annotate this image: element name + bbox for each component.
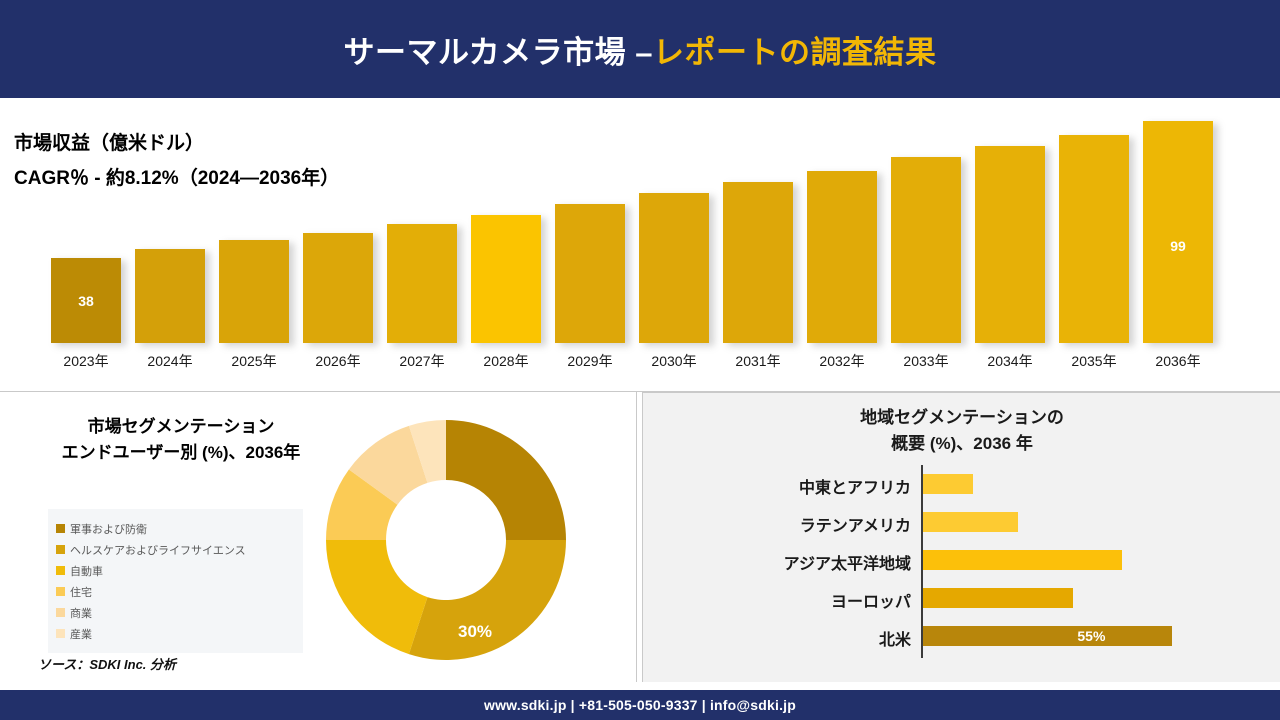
legend-item: 住宅	[56, 581, 303, 602]
donut-chart-title: 市場セグメンテーション エンドユーザー別 (%)、2036年	[36, 414, 326, 467]
source-note: ソース：SDKI Inc. 分析	[38, 654, 176, 673]
infographic-page: サーマルカメラ市場 –レポートの調査結果 市場収益（億米ドル） CAGR％ - …	[0, 0, 1280, 720]
revenue-bar	[303, 233, 373, 343]
revenue-bar-label: 2035年	[1052, 351, 1136, 371]
revenue-bar	[555, 204, 625, 343]
legend-swatch-icon	[56, 566, 65, 575]
legend-swatch-icon	[56, 587, 65, 596]
donut-chart-svg	[310, 404, 582, 676]
revenue-bar-slot: 99	[1136, 108, 1220, 343]
region-row: 中東とアフリカ	[643, 465, 1280, 503]
legend-item-label: 軍事および防衛	[70, 521, 147, 537]
legend-item: 商業	[56, 602, 303, 623]
revenue-bar-label: 2028年	[464, 351, 548, 371]
donut-title-line-1: 市場セグメンテーション	[36, 414, 326, 440]
revenue-bar	[807, 171, 877, 343]
region-bar	[923, 588, 1073, 608]
page-title-accent: レポートの調査結果	[653, 35, 937, 70]
revenue-bar	[891, 157, 961, 343]
revenue-bar-label: 2032年	[800, 351, 884, 371]
region-bar	[923, 550, 1122, 570]
region-row: アジア太平洋地域	[643, 541, 1280, 579]
revenue-bar-label: 2029年	[548, 351, 632, 371]
revenue-bar-slot	[296, 108, 380, 343]
revenue-bar-slot	[884, 108, 968, 343]
donut-title-line-2: エンドユーザー別 (%)、2036年	[36, 440, 326, 466]
region-title-line-1: 地域セグメンテーションの	[643, 405, 1280, 431]
donut-slice	[326, 540, 427, 654]
legend-item-label: 商業	[70, 605, 92, 621]
legend-swatch-icon	[56, 524, 65, 533]
revenue-bar-slot	[968, 108, 1052, 343]
region-title-line-2: 概要 (%)、2036 年	[643, 431, 1280, 457]
region-bar	[923, 474, 973, 494]
footer-bar: www.sdki.jp | +81-505-050-9337 | info@sd…	[0, 690, 1280, 720]
market-revenue-section: 市場収益（億米ドル） CAGR％ - 約8.12%（2024―2036年） 38…	[0, 98, 1280, 392]
revenue-column-plot: 3899	[44, 108, 1224, 343]
revenue-bar-label: 2027年	[380, 351, 464, 371]
revenue-bar	[723, 182, 793, 343]
region-bar-chart: 中東とアフリカラテンアメリカアジア太平洋地域ヨーロッパ北米55%	[643, 465, 1280, 665]
revenue-bar-label: 2033年	[884, 351, 968, 371]
donut-data-label: 30%	[458, 622, 492, 642]
legend-swatch-icon	[56, 545, 65, 554]
regional-segmentation-panel: 地域セグメンテーションの 概要 (%)、2036 年 中東とアフリカラテンアメリ…	[642, 392, 1280, 682]
revenue-bar-slot	[380, 108, 464, 343]
revenue-bar-slot	[1052, 108, 1136, 343]
page-title-primary: サーマルカメラ市場 –	[344, 35, 653, 70]
legend-item: 産業	[56, 623, 303, 644]
revenue-bar	[471, 215, 541, 343]
region-row: ヨーロッパ	[643, 579, 1280, 617]
revenue-bar-slot: 38	[44, 108, 128, 343]
revenue-bar	[387, 224, 457, 343]
revenue-bar	[975, 146, 1045, 343]
region-label: ヨーロッパ	[643, 588, 911, 612]
legend-item-label: 住宅	[70, 584, 92, 600]
donut-chart: 30%	[310, 404, 582, 676]
region-bar	[923, 626, 1172, 646]
revenue-bar-slot	[212, 108, 296, 343]
revenue-bar-label: 2024年	[128, 351, 212, 371]
end-user-segmentation-panel: 市場セグメンテーション エンドユーザー別 (%)、2036年 軍事および防衛ヘル…	[0, 392, 637, 682]
revenue-bar	[135, 249, 205, 343]
revenue-bar-slot	[800, 108, 884, 343]
revenue-bar-slot	[548, 108, 632, 343]
revenue-bar-label: 2031年	[716, 351, 800, 371]
legend-item-label: 産業	[70, 626, 92, 642]
region-row: 北米55%	[643, 617, 1280, 655]
region-bar-value: 55%	[1077, 628, 1105, 644]
revenue-bar-label: 2034年	[968, 351, 1052, 371]
revenue-bar-label: 2025年	[212, 351, 296, 371]
revenue-bar-label: 2036年	[1136, 351, 1220, 371]
region-label: ラテンアメリカ	[643, 512, 911, 536]
legend-item: 軍事および防衛	[56, 518, 303, 539]
legend-item: ヘルスケアおよびライフサイエンス	[56, 539, 303, 560]
legend-item-label: 自動車	[70, 563, 103, 579]
region-chart-title: 地域セグメンテーションの 概要 (%)、2036 年	[643, 405, 1280, 456]
region-label: アジア太平洋地域	[643, 550, 911, 574]
region-bar	[923, 512, 1018, 532]
revenue-bar	[1059, 135, 1129, 343]
segmentation-section: 市場セグメンテーション エンドユーザー別 (%)、2036年 軍事および防衛ヘル…	[0, 392, 1280, 682]
revenue-bar-slot	[632, 108, 716, 343]
legend-swatch-icon	[56, 629, 65, 638]
page-title: サーマルカメラ市場 –レポートの調査結果	[344, 27, 937, 72]
revenue-bar-value: 99	[1143, 238, 1213, 254]
revenue-bar-label: 2030年	[632, 351, 716, 371]
legend-swatch-icon	[56, 608, 65, 617]
revenue-bar-label: 2026年	[296, 351, 380, 371]
revenue-bar-value: 38	[51, 293, 121, 309]
revenue-bar	[219, 240, 289, 343]
legend-item: 自動車	[56, 560, 303, 581]
revenue-bar-slot	[464, 108, 548, 343]
revenue-column-axis-labels: 2023年2024年2025年2026年2027年2028年2029年2030年…	[44, 348, 1224, 378]
revenue-bar-slot	[128, 108, 212, 343]
region-label: 中東とアフリカ	[643, 474, 911, 498]
revenue-column-chart: 3899 2023年2024年2025年2026年2027年2028年2029年…	[44, 108, 1224, 383]
donut-slice	[409, 540, 566, 660]
header-bar: サーマルカメラ市場 –レポートの調査結果	[0, 0, 1280, 98]
revenue-bar	[639, 193, 709, 343]
legend-item-label: ヘルスケアおよびライフサイエンス	[70, 542, 246, 558]
region-label: 北米	[643, 626, 911, 650]
revenue-bar	[1143, 121, 1213, 343]
region-row: ラテンアメリカ	[643, 503, 1280, 541]
donut-legend: 軍事および防衛ヘルスケアおよびライフサイエンス自動車住宅商業産業	[48, 509, 303, 653]
donut-slice	[446, 420, 566, 540]
footer-contact-text: www.sdki.jp | +81-505-050-9337 | info@sd…	[484, 697, 796, 713]
revenue-bar-slot	[716, 108, 800, 343]
revenue-bar-label: 2023年	[44, 351, 128, 371]
